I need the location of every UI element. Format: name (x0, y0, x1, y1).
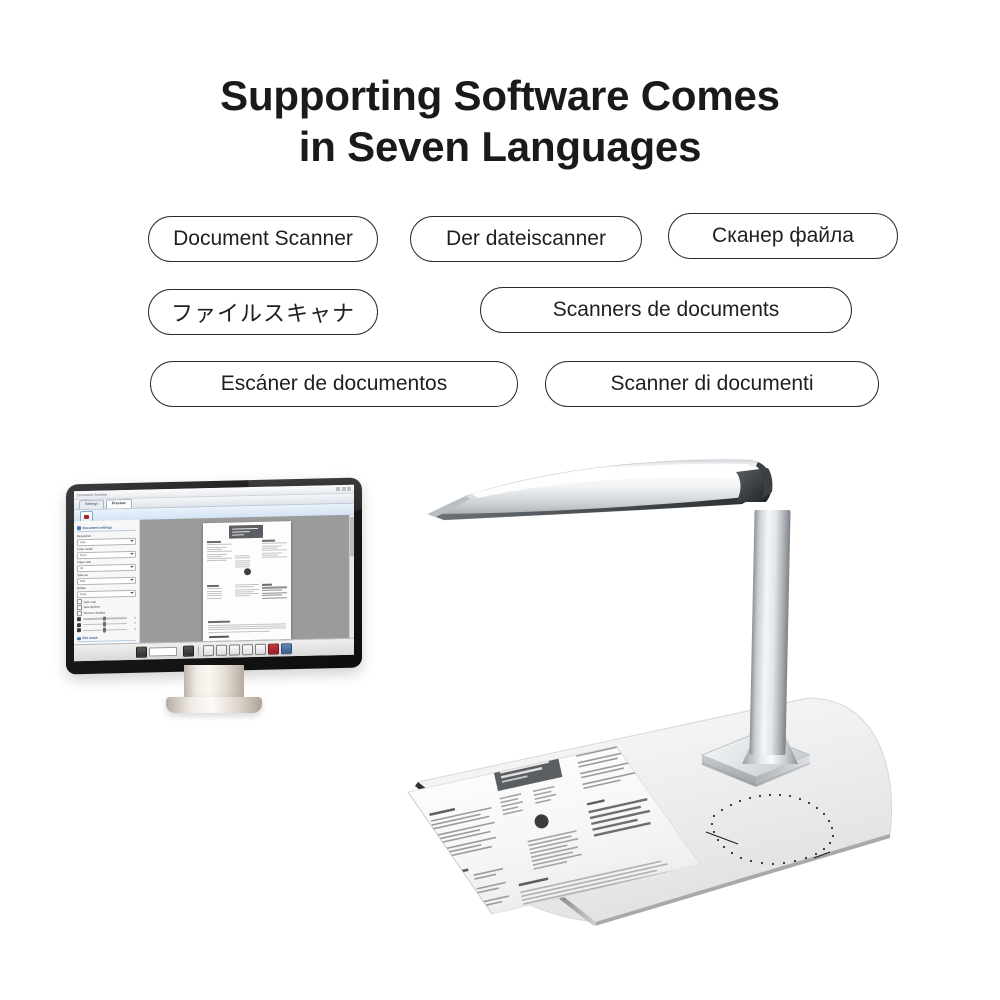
document-name-line (232, 528, 258, 530)
zoom-field[interactable] (149, 646, 177, 656)
checkbox-label-auto-crop: Auto crop (84, 599, 96, 603)
document-columns-lower (207, 583, 287, 601)
document-column-right-lower (262, 583, 287, 600)
document-column-left (207, 541, 232, 570)
camera-head-arm (406, 458, 788, 532)
document-column-center-lower (235, 584, 260, 601)
brightness-icon (77, 617, 81, 621)
close-icon[interactable] (347, 487, 351, 490)
zoom-out-icon[interactable] (203, 645, 214, 656)
slider-brightness[interactable]: 0 (77, 616, 136, 621)
desktop-monitor: Document Scanner Settings Preview Docume… (66, 481, 362, 731)
maximize-icon[interactable] (342, 487, 346, 490)
minimize-icon[interactable] (336, 487, 340, 490)
document-column-center (235, 555, 260, 569)
software-sidebar: Document settings Resolution Auto Color … (74, 520, 140, 646)
monitor-stand-foot (166, 697, 262, 713)
contrast-icon (77, 623, 81, 627)
slider-thumb[interactable] (103, 622, 106, 627)
export-icon[interactable] (281, 643, 292, 654)
monitor-stand-neck (184, 665, 244, 701)
tab-settings[interactable]: Settings (79, 500, 104, 510)
slider-gamma[interactable]: 0 (77, 627, 136, 632)
field-paper-size[interactable]: A4 (77, 563, 136, 571)
window-controls[interactable] (336, 487, 351, 491)
resume-document-on-mat (384, 718, 724, 918)
monitor-bezel: Document Scanner Settings Preview Docume… (66, 478, 362, 675)
delete-icon[interactable] (268, 643, 279, 654)
toolbar-divider (198, 646, 199, 655)
vertical-post (749, 510, 790, 755)
document-camera-scanner (370, 450, 915, 950)
preview-scrollbar[interactable] (349, 515, 354, 639)
language-pill-italian[interactable]: Scanner di documenti (545, 361, 879, 407)
checkbox-box-icon[interactable] (77, 611, 82, 616)
language-pill-english[interactable]: Document Scanner (148, 216, 378, 262)
preview-canvas[interactable] (140, 515, 354, 644)
tab-preview[interactable]: Preview (106, 499, 132, 509)
document-columns (207, 539, 287, 570)
slider-value-gamma: 0 (129, 628, 136, 631)
software-work-area: Document settings Resolution Auto Color … (74, 515, 354, 646)
scan-icon[interactable] (136, 646, 147, 657)
document-footer-paragraph (208, 620, 286, 634)
slider-value-brightness: 0 (129, 617, 136, 620)
language-pill-group: Document Scanner Der dateiscanner Сканер… (0, 0, 1000, 260)
slider-contrast[interactable]: 0 (77, 622, 136, 627)
zoom-in-icon[interactable] (183, 645, 194, 656)
field-resolution[interactable]: Auto (77, 537, 136, 545)
language-pill-japanese[interactable]: ファイルスキャナ (148, 289, 378, 335)
document-signature (209, 636, 229, 638)
document-header-block (229, 525, 263, 539)
language-pill-spanish[interactable]: Escáner de documentos (150, 361, 518, 407)
slider-track[interactable] (83, 623, 127, 625)
sidebar-group-title-file-name: File name (77, 635, 136, 642)
document-subtitle-line (232, 531, 250, 533)
field-rotate[interactable]: None (77, 589, 136, 597)
field-color-mode[interactable]: Color (77, 550, 136, 558)
document-column-right (262, 539, 287, 568)
document-preview-page[interactable] (203, 521, 291, 641)
field-save-as[interactable]: PDF (77, 576, 136, 584)
slider-thumb[interactable] (103, 616, 106, 621)
document-column-left-lower (207, 585, 232, 602)
document-avatar (244, 568, 251, 575)
checkbox-label-auto-deskew: Auto deskew (84, 605, 101, 609)
scrollbar-thumb[interactable] (350, 517, 354, 557)
language-pill-russian[interactable]: Сканер файла (668, 213, 898, 259)
rotate-left-icon[interactable] (229, 644, 240, 655)
slider-track[interactable] (83, 618, 127, 620)
crop-icon[interactable] (255, 643, 266, 654)
checkbox-box-icon[interactable] (77, 605, 82, 610)
slider-thumb[interactable] (103, 628, 106, 633)
rotate-right-icon[interactable] (242, 644, 253, 655)
checkbox-remove-shadow[interactable]: Remove shadow (77, 609, 136, 615)
gamma-icon (77, 629, 81, 633)
checkbox-box-icon[interactable] (77, 599, 82, 604)
sidebar-group-title-document-settings: Document settings (77, 525, 136, 532)
checkbox-label-remove-shadow: Remove shadow (84, 611, 106, 616)
language-pill-french[interactable]: Scanners de documents (480, 287, 852, 333)
language-pill-german[interactable]: Der dateiscanner (410, 216, 642, 262)
document-role-line (232, 534, 244, 536)
slider-value-contrast: 0 (129, 622, 136, 625)
fit-page-icon[interactable] (216, 644, 227, 655)
software-window-title: Document Scanner (77, 493, 108, 498)
monitor-screen: Document Scanner Settings Preview Docume… (74, 485, 354, 662)
slider-track[interactable] (83, 629, 127, 631)
